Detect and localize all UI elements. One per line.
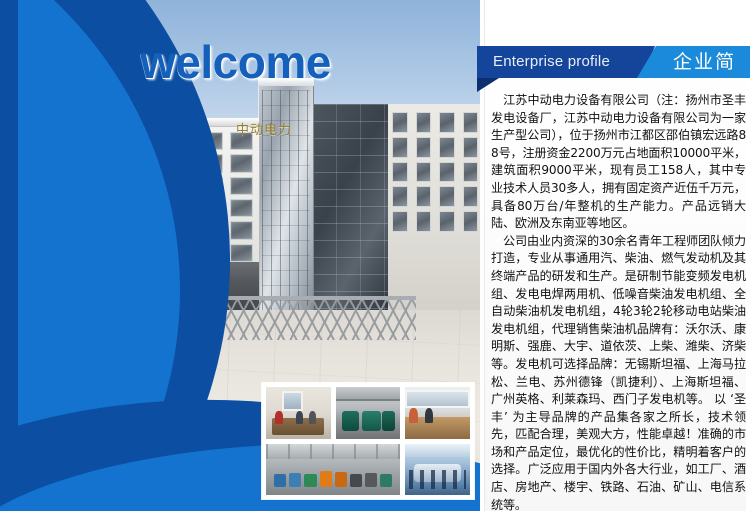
- photo-boardroom: [404, 443, 471, 497]
- glass-tower: [258, 86, 314, 310]
- photo-office-meeting: [265, 386, 332, 440]
- window-row-right: [392, 112, 478, 232]
- photo-showroom-office: [404, 386, 471, 440]
- photo-collage: [262, 383, 474, 499]
- company-profile-banner: 江苏中动电力设备有限公司 Zhongdong Power Equipment C…: [0, 0, 750, 511]
- photo-factory-workshop: [265, 443, 401, 497]
- profile-panel: Enterprise profile 企业简介 江苏中动电力设备有限公司（注：扬…: [480, 0, 750, 511]
- company-profile-body: 江苏中动电力设备有限公司（注：扬州市圣丰发电设备厂，江苏中动电力设备有限公司为一…: [491, 92, 746, 511]
- glass-curtain-wall: [312, 104, 388, 310]
- roof-logo-text: 中动电力: [236, 124, 292, 137]
- photo-generator-assembly: [335, 386, 402, 440]
- hero-photo-stage: 江苏中动电力设备有限公司 Zhongdong Power Equipment C…: [0, 0, 480, 511]
- section-tab-label-en: Enterprise profile: [493, 46, 610, 78]
- welcome-title: welcome: [140, 36, 331, 88]
- section-tab: Enterprise profile 企业简介: [477, 46, 750, 78]
- section-tab-fold: [477, 78, 499, 92]
- section-tab-label-cn: 企业简介: [673, 46, 750, 78]
- factory-building-right: [312, 104, 480, 310]
- profile-panel-inner: Enterprise profile 企业简介 江苏中动电力设备有限公司（注：扬…: [484, 0, 746, 511]
